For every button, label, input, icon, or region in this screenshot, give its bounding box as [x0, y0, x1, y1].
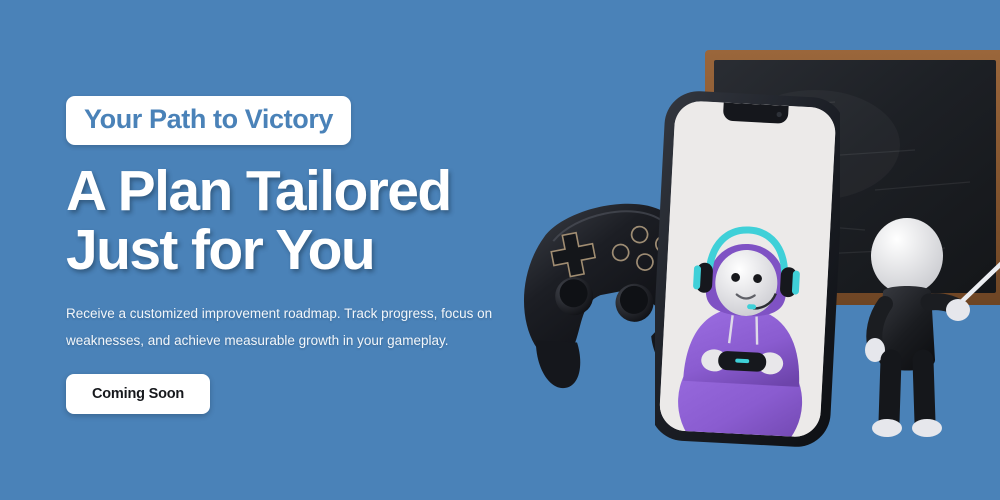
hero-banner: Your Path to Victory A Plan Tailored Jus…	[0, 0, 1000, 500]
smartphone-icon	[655, 90, 840, 450]
headline-line-2: Just for You	[66, 221, 536, 280]
eyebrow-badge: Your Path to Victory	[66, 96, 351, 145]
teacher-figure-icon	[845, 210, 1000, 460]
pointer-stick-icon	[957, 262, 1000, 306]
headline-line-1: A Plan Tailored	[66, 159, 451, 223]
hero-copy: Your Path to Victory A Plan Tailored Jus…	[66, 96, 536, 414]
hero-description: Receive a customized improvement roadmap…	[66, 301, 521, 354]
page-title: A Plan Tailored Just for You	[66, 162, 536, 279]
coming-soon-button[interactable]: Coming Soon	[66, 374, 210, 414]
